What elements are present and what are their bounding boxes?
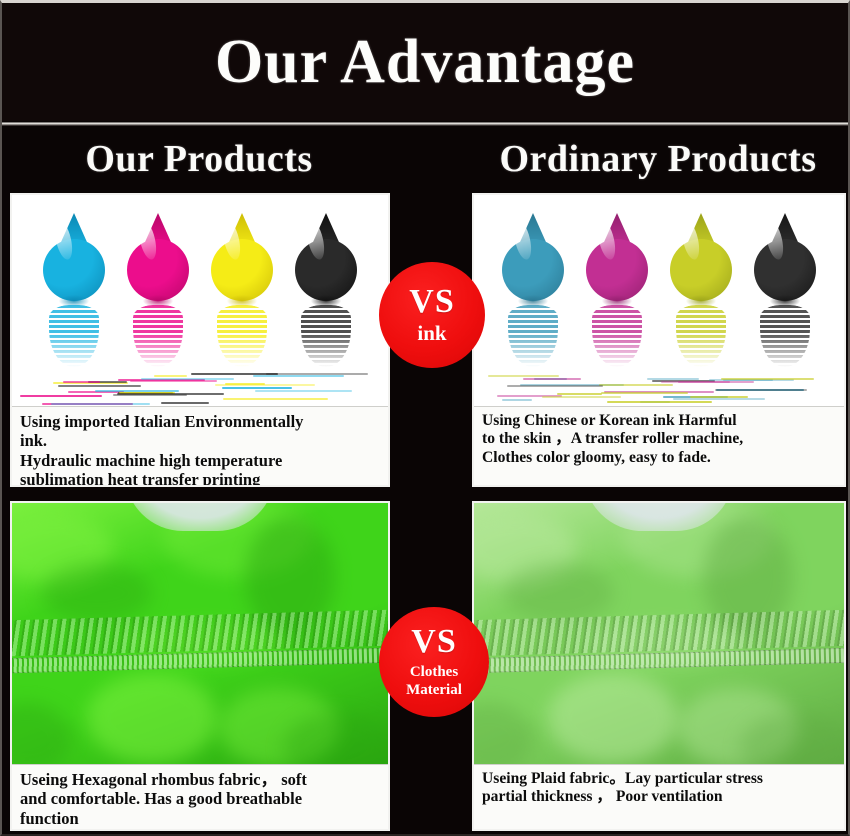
droplet-body [295, 239, 357, 301]
ink-droplet-row [12, 195, 388, 313]
caption-line: Clothes color gloomy, easy to fade. [482, 449, 838, 467]
caption-line: partial thickness ， Poor ventilation [482, 788, 838, 806]
fabric-fold [548, 673, 678, 763]
ink-ripple-streak [63, 381, 100, 383]
vs-badge-subject-line2: Material [406, 682, 462, 700]
panel-our-ink: Using imported Italian Environmentally i… [10, 193, 390, 487]
ink-ripple-streak [715, 389, 807, 391]
vs-badge-ink: VS ink [379, 262, 485, 368]
vs-badge-subject-line1: Clothes [406, 664, 462, 682]
droplet-shape [670, 213, 732, 301]
vs-badge-material: VS Clothes Material [379, 607, 489, 717]
column-heading-ordinary-products: Ordinary Products [468, 129, 848, 189]
panel-ordinary-fabric: Useing Plaid fabric。Lay particular stres… [472, 501, 846, 831]
ink-ripple-streak [266, 373, 367, 375]
fabric-fold [12, 703, 72, 768]
droplet-shape [295, 213, 357, 301]
ink-droplet-row [474, 195, 844, 313]
ink-ripple-streak [507, 385, 602, 387]
header-banner: Our Advantage [2, 3, 848, 121]
caption-line: function [20, 809, 382, 828]
fabric-fold [87, 673, 217, 763]
droplet-body [211, 239, 273, 301]
droplet-body [43, 239, 105, 301]
fabric-fold [474, 703, 534, 768]
droplet-shape [43, 213, 105, 301]
black-drop [295, 213, 357, 313]
ink-ripple-streak [141, 378, 234, 380]
ink-ripple-streak [161, 402, 209, 404]
caption-ordinary-fabric: Useing Plaid fabric。Lay particular stres… [474, 764, 844, 829]
caption-line: to the skin ，A transfer roller machine, [482, 430, 838, 448]
fabric-closeup-pale [474, 503, 844, 768]
ink-ripple-streak [51, 403, 150, 405]
ink-ripple-streak [523, 378, 582, 380]
magenta-drop [127, 213, 189, 313]
header-divider [2, 121, 848, 126]
vs-badge-label: VS [409, 285, 454, 319]
droplet-reflection [508, 305, 558, 367]
caption-line: Useing Plaid fabric。Lay particular stres… [482, 770, 838, 788]
panel-ordinary-ink: Using Chinese or Korean ink Harmful to t… [472, 193, 846, 487]
page-title: Our Advantage [215, 31, 635, 93]
droplet-shape [127, 213, 189, 301]
column-heading-our-products: Our Products [8, 129, 390, 189]
ink-ripple-streak [154, 375, 187, 377]
advantage-infographic: Our Advantage Our Products Ordinary Prod… [0, 0, 850, 836]
vs-badge-label: VS [411, 625, 456, 659]
ink-ripple-streak [542, 396, 621, 398]
caption-line: Hydraulic machine high temperature [20, 451, 382, 470]
black-drop [754, 213, 816, 313]
droplet-body [670, 239, 732, 301]
our-fabric-photo [12, 503, 388, 768]
caption-ordinary-ink: Using Chinese or Korean ink Harmful to t… [474, 406, 844, 485]
ordinary-fabric-photo [474, 503, 844, 768]
ink-ripple-streak [557, 393, 603, 395]
droplet-body [127, 239, 189, 301]
caption-line: Using Chinese or Korean ink Harmful [482, 412, 838, 430]
droplet-body [754, 239, 816, 301]
droplet-shape [754, 213, 816, 301]
fabric-closeup-bright [12, 503, 388, 768]
droplet-shape [502, 213, 564, 301]
droplet-reflection [760, 305, 810, 367]
droplet-reflection [49, 305, 99, 367]
vs-badge-subject: ink [417, 322, 446, 344]
ink-ripple-streak [661, 381, 730, 383]
droplet-body [586, 239, 648, 301]
ink-streaks [12, 368, 388, 408]
ink-ripple-streak [20, 395, 102, 397]
droplet-shape [586, 213, 648, 301]
ink-ripple-streak [215, 384, 315, 386]
caption-line: and comfortable. Has a good breathable [20, 789, 382, 808]
magenta-drop [586, 213, 648, 313]
fabric-fold [42, 563, 152, 623]
ordinary-ink-photo [474, 195, 844, 410]
droplet-body [502, 239, 564, 301]
ink-ripple-streak [130, 380, 217, 382]
ink-ripple-streak [253, 375, 343, 377]
cyan-drop [502, 213, 564, 313]
ink-ripple-streak [95, 390, 179, 392]
ink-ripple-streak [58, 385, 141, 387]
fabric-fold [504, 563, 614, 623]
vs-badge-subject: Clothes Material [406, 664, 462, 699]
caption-line: Using imported Italian Environmentally [20, 412, 382, 431]
ink-ripple-streak [599, 384, 673, 386]
ink-ripple-streak [601, 392, 688, 394]
droplet-shape [211, 213, 273, 301]
caption-line: Useing Hexagonal rhombus fabric， soft [20, 770, 382, 789]
droplet-reflection [676, 305, 726, 367]
ink-droplet-scene [12, 195, 388, 410]
caption-our-fabric: Useing Hexagonal rhombus fabric， soft an… [12, 764, 388, 829]
droplet-reflection [301, 305, 351, 367]
ink-ripple-streak [690, 396, 748, 398]
caption-line: ink. [20, 431, 382, 450]
ink-ripple-streak [223, 398, 328, 400]
ink-streaks [474, 368, 844, 408]
ink-droplet-scene [474, 195, 844, 410]
ink-ripple-streak [191, 373, 277, 375]
ink-ripple-streak [721, 378, 814, 380]
column-headings: Our Products Ordinary Products [2, 129, 848, 189]
droplet-reflection [592, 305, 642, 367]
droplet-reflection [217, 305, 267, 367]
caption-line: sublimation heat transfer printing [20, 470, 382, 487]
ink-ripple-streak [255, 390, 352, 392]
yellow-drop [670, 213, 732, 313]
caption-our-ink: Using imported Italian Environmentally i… [12, 406, 388, 485]
panel-our-fabric: Useing Hexagonal rhombus fabric， soft an… [10, 501, 390, 831]
droplet-reflection [133, 305, 183, 367]
ink-ripple-streak [488, 375, 559, 377]
ink-ripple-streak [673, 398, 764, 400]
ink-ripple-streak [502, 399, 532, 401]
yellow-drop [211, 213, 273, 313]
cyan-drop [43, 213, 105, 313]
our-ink-photo [12, 195, 388, 410]
ink-ripple-streak [607, 401, 712, 403]
